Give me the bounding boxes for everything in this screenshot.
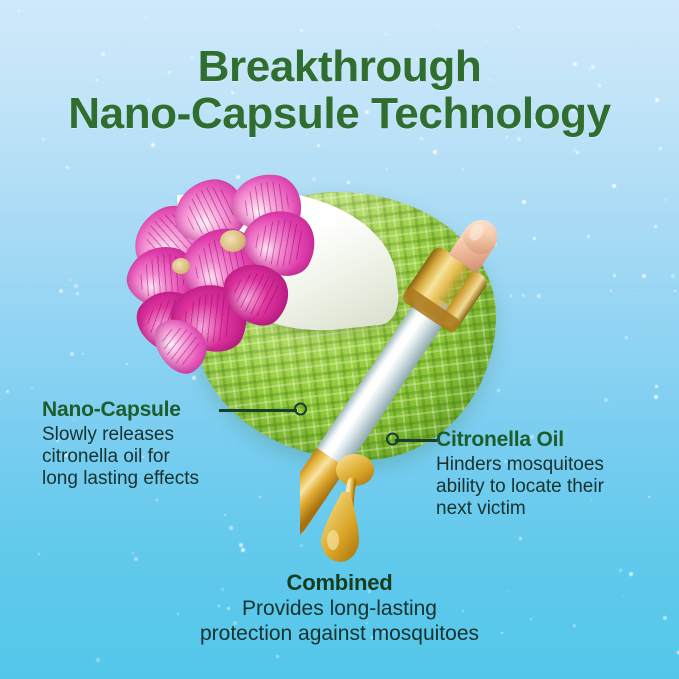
callout-citronella-oil-body: Hinders mosquitoes ability to locate the… (436, 454, 604, 520)
dropper-glass-tube (300, 289, 454, 558)
callout-nano-capsule-line-1: Slowly releases (42, 424, 199, 446)
callout-nano-capsule-title: Nano-Capsule (42, 398, 199, 422)
connector-line (395, 439, 437, 442)
callout-combined-title: Combined (0, 570, 679, 596)
callout-combined-line-1: Provides long-lasting (0, 597, 679, 622)
callout-citronella-oil: Citronella Oil Hinders mosquitoes abilit… (436, 428, 604, 520)
flower-center (220, 230, 246, 252)
callout-nano-capsule-line-3: long lasting effects (42, 468, 199, 490)
callout-citronella-oil-title: Citronella Oil (436, 428, 604, 452)
connector-line (219, 409, 297, 412)
page-title: Breakthrough Nano-Capsule Technology (0, 44, 679, 137)
callout-nano-capsule-body: Slowly releases citronella oil for long … (42, 424, 199, 490)
infographic-canvas: Breakthrough Nano-Capsule Technology (0, 0, 679, 679)
callout-combined: Combined Provides long-lasting protectio… (0, 570, 679, 646)
callout-citronella-oil-line-2: ability to locate their (436, 476, 604, 498)
geranium-flower-cluster (128, 172, 318, 372)
callout-citronella-oil-line-1: Hinders mosquitoes (436, 454, 604, 476)
callout-citronella-oil-line-3: next victim (436, 498, 604, 520)
callout-combined-body: Provides long-lasting protection against… (0, 597, 679, 646)
connector-endpoint-dot (294, 403, 307, 416)
callout-combined-line-2: protection against mosquitoes (0, 622, 679, 647)
flower-center (172, 258, 190, 274)
dropper-svg (300, 192, 560, 592)
title-line-2: Nano-Capsule Technology (0, 91, 679, 138)
callout-nano-capsule: Nano-Capsule Slowly releases citronella … (42, 398, 199, 490)
dropper-illustration (300, 192, 560, 592)
callout-nano-capsule-line-2: citronella oil for (42, 446, 199, 468)
title-line-1: Breakthrough (0, 44, 679, 91)
connector-nano-capsule (219, 402, 311, 416)
